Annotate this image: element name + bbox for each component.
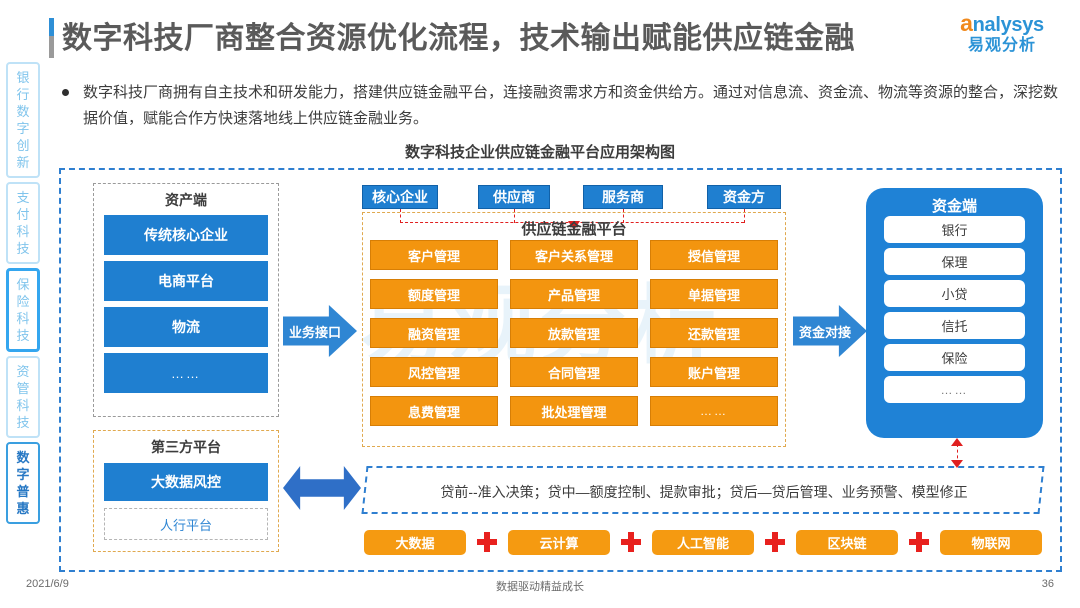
sidebar-item-label: 支: [10, 189, 36, 206]
role-chip-4: 资金方: [707, 185, 781, 209]
platform-module: 单据管理: [650, 279, 778, 309]
plus-icon: [477, 532, 497, 552]
sidebar-item-label: 保: [11, 276, 35, 293]
third-party-primary-item: 大数据风控: [104, 463, 268, 501]
sidebar-item-2[interactable]: 支付科技: [6, 182, 40, 264]
platform-module: 客户关系管理: [510, 240, 638, 270]
platform-module: 产品管理: [510, 279, 638, 309]
technology-tag-strip: 大数据云计算人工智能区块链物联网: [364, 524, 1042, 560]
loan-process-text: 贷前--准入决策；贷中—额度控制、提款审批；贷后—贷后管理、业务预警、模型修正: [374, 470, 1034, 514]
tech-tag: 云计算: [508, 530, 610, 555]
fund-docking-label: 资金对接: [793, 322, 851, 341]
fund-item: ……: [884, 376, 1025, 403]
platform-module-grid: 客户管理客户关系管理授信管理额度管理产品管理单据管理融资管理放款管理还款管理风控…: [370, 240, 778, 426]
sidebar-item-label: 数: [10, 103, 36, 120]
platform-module: 账户管理: [650, 357, 778, 387]
logo-chinese-text: 易观分析: [942, 36, 1062, 55]
platform-module: 授信管理: [650, 240, 778, 270]
platform-module: 还款管理: [650, 318, 778, 348]
page-title: 数字科技厂商整合资源优化流程，技术输出赋能供应链金融: [62, 18, 922, 60]
fund-panel: 资金端 银行保理小贷信托保险……: [866, 188, 1043, 438]
sidebar-item-label: 技: [10, 414, 36, 431]
logo-wordmark: analysys: [942, 12, 1062, 36]
title-accent-bar: [49, 18, 54, 58]
tech-tag: 物联网: [940, 530, 1042, 555]
logo-main-text: nalysys: [973, 14, 1044, 36]
tech-tag: 大数据: [364, 530, 466, 555]
sidebar-item-label: 科: [10, 397, 36, 414]
sidebar-item-label: 惠: [10, 500, 36, 517]
logo-initial-a: a: [960, 10, 973, 36]
platform-module: 合同管理: [510, 357, 638, 387]
third-party-title: 第三方平台: [94, 437, 278, 457]
platform-module: ……: [650, 396, 778, 426]
tech-tag: 人工智能: [652, 530, 754, 555]
asset-item: 物流: [104, 307, 268, 347]
role-chip-1: 核心企业: [362, 185, 438, 209]
sidebar-item-3[interactable]: 保险科技: [6, 268, 40, 352]
fund-item: 信托: [884, 312, 1025, 339]
sidebar-item-label: 数: [10, 449, 36, 466]
sidebar-item-label: 字: [10, 466, 36, 483]
platform-title: 供应链金融平台: [363, 218, 785, 239]
platform-module: 融资管理: [370, 318, 498, 348]
sidebar-item-label: 技: [10, 240, 36, 257]
analysys-logo: analysys 易观分析: [942, 12, 1062, 55]
asset-item: 电商平台: [104, 261, 268, 301]
slide-canvas: 数字科技厂商整合资源优化流程，技术输出赋能供应链金融 analysys 易观分析…: [0, 0, 1080, 608]
plus-icon: [621, 532, 641, 552]
sidebar-item-label: 银: [10, 69, 36, 86]
platform-module: 放款管理: [510, 318, 638, 348]
red-arrow-down-icon: [951, 460, 963, 468]
asset-panel-title: 资产端: [94, 190, 278, 210]
fund-item: 小贷: [884, 280, 1025, 307]
sidebar-item-label: 科: [10, 223, 36, 240]
third-party-secondary-item: 人行平台: [104, 508, 268, 540]
sidebar-item-label: 技: [11, 327, 35, 344]
platform-module: 风控管理: [370, 357, 498, 387]
role-chip-2: 供应商: [478, 185, 550, 209]
sidebar-tabs: 银行数字创新支付科技保险科技资管科技数字普惠: [6, 62, 42, 528]
platform-module: 批处理管理: [510, 396, 638, 426]
footer-slogan: 数据驱动精益成长: [0, 578, 1080, 594]
bullet-text: 数字科技厂商拥有自主技术和研发能力，搭建供应链金融平台，连接融资需求方和资金供给…: [83, 80, 1062, 132]
footer: 2021/6/9 数据驱动精益成长 36: [0, 578, 1080, 598]
asset-panel: 资产端 传统核心企业电商平台物流……: [93, 183, 279, 417]
sidebar-item-5[interactable]: 数字普惠: [6, 442, 40, 524]
sidebar-item-label: 普: [10, 483, 36, 500]
fund-item: 保险: [884, 344, 1025, 371]
asset-item: 传统核心企业: [104, 215, 268, 255]
business-interface-label: 业务接口: [283, 322, 341, 341]
plus-icon: [765, 532, 785, 552]
asset-item: ……: [104, 353, 268, 393]
footer-page-number: 36: [1042, 578, 1054, 590]
platform-module: 客户管理: [370, 240, 498, 270]
fund-item: 保理: [884, 248, 1025, 275]
platform-module: 额度管理: [370, 279, 498, 309]
bullet-paragraph: 数字科技厂商拥有自主技术和研发能力，搭建供应链金融平台，连接融资需求方和资金供给…: [62, 80, 1062, 132]
role-chip-3: 服务商: [583, 185, 663, 209]
sidebar-item-label: 管: [10, 380, 36, 397]
third-party-panel: 第三方平台 大数据风控 人行平台: [93, 430, 279, 552]
platform-module: 息费管理: [370, 396, 498, 426]
fund-panel-title: 资金端: [866, 195, 1043, 216]
plus-icon: [909, 532, 929, 552]
sidebar-item-label: 险: [11, 293, 35, 310]
sidebar-item-label: 行: [10, 86, 36, 103]
tech-tag: 区块链: [796, 530, 898, 555]
sidebar-item-label: 科: [11, 310, 35, 327]
fund-item: 银行: [884, 216, 1025, 243]
bullet-dot-icon: [62, 89, 69, 96]
sidebar-item-label: 付: [10, 206, 36, 223]
sidebar-item-label: 资: [10, 363, 36, 380]
diagram-title: 数字科技企业供应链金融平台应用架构图: [0, 141, 1080, 162]
sidebar-item-4[interactable]: 资管科技: [6, 356, 40, 438]
sidebar-item-label: 字: [10, 120, 36, 137]
